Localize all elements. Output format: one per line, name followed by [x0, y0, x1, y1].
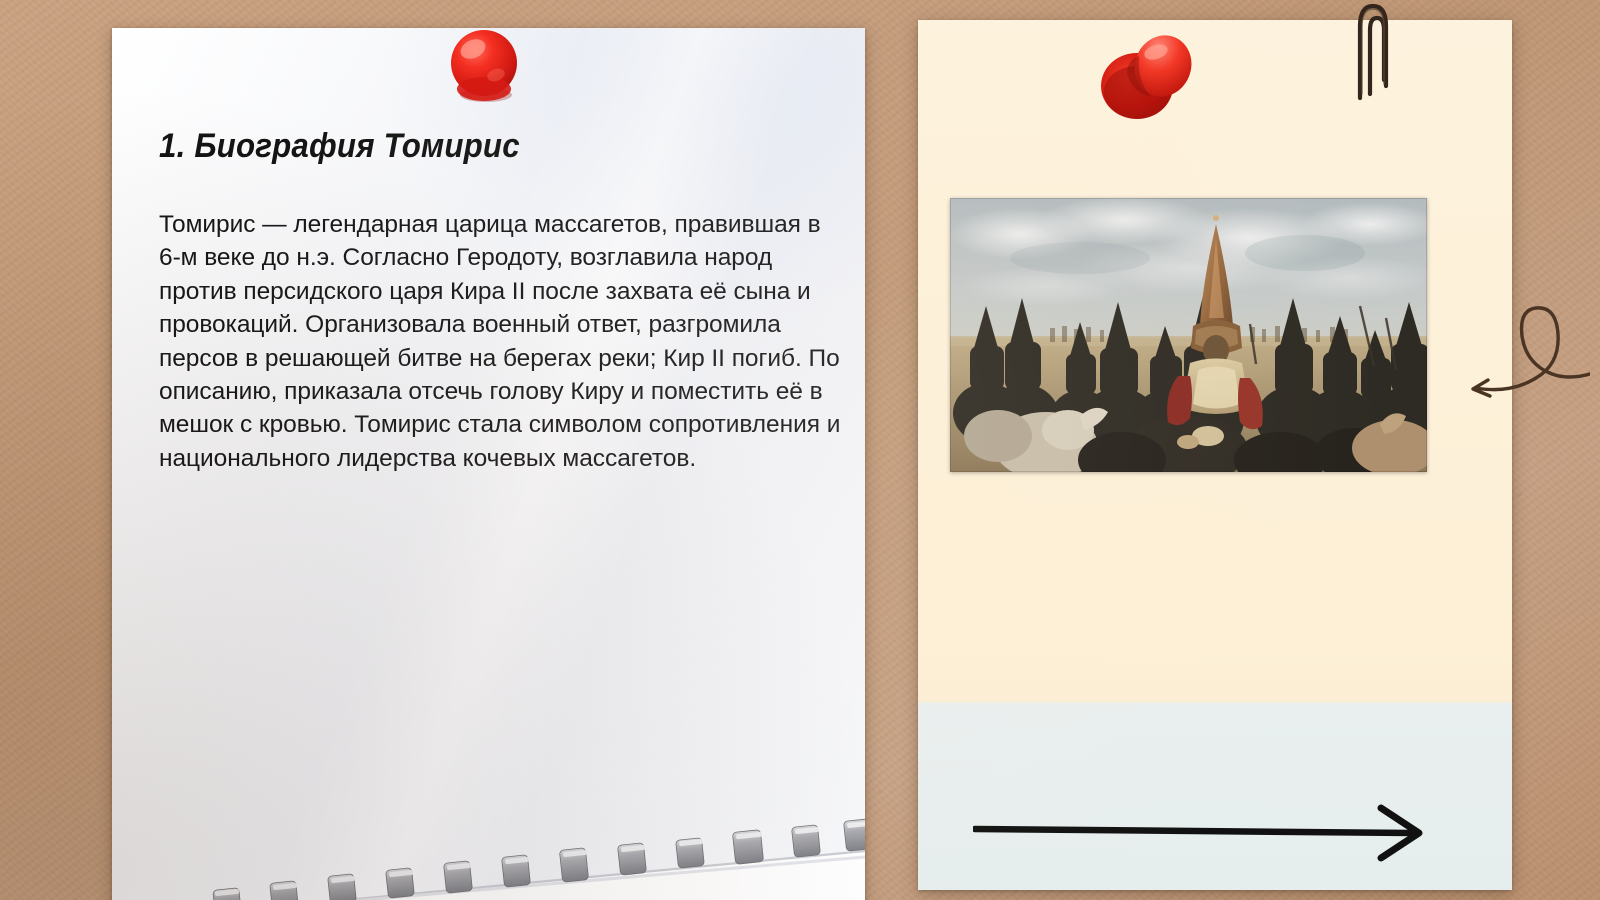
curly-arrow-left-icon [1440, 272, 1590, 412]
spiral-binding-icon [112, 758, 865, 900]
photo-card[interactable] [918, 20, 1512, 890]
cork-board-background: 1. Биография Томирис Томирис — легендарн… [0, 0, 1600, 900]
biography-body-text: Томирис — легендарная царица массагетов,… [159, 208, 849, 475]
page-title: 1. Биография Томирис [159, 127, 520, 166]
biography-note-card[interactable]: 1. Биография Томирис Томирис — легендарн… [112, 28, 865, 900]
arrow-right-icon [973, 802, 1443, 862]
paperclip-icon [1340, 0, 1406, 106]
historical-photo [950, 198, 1427, 472]
